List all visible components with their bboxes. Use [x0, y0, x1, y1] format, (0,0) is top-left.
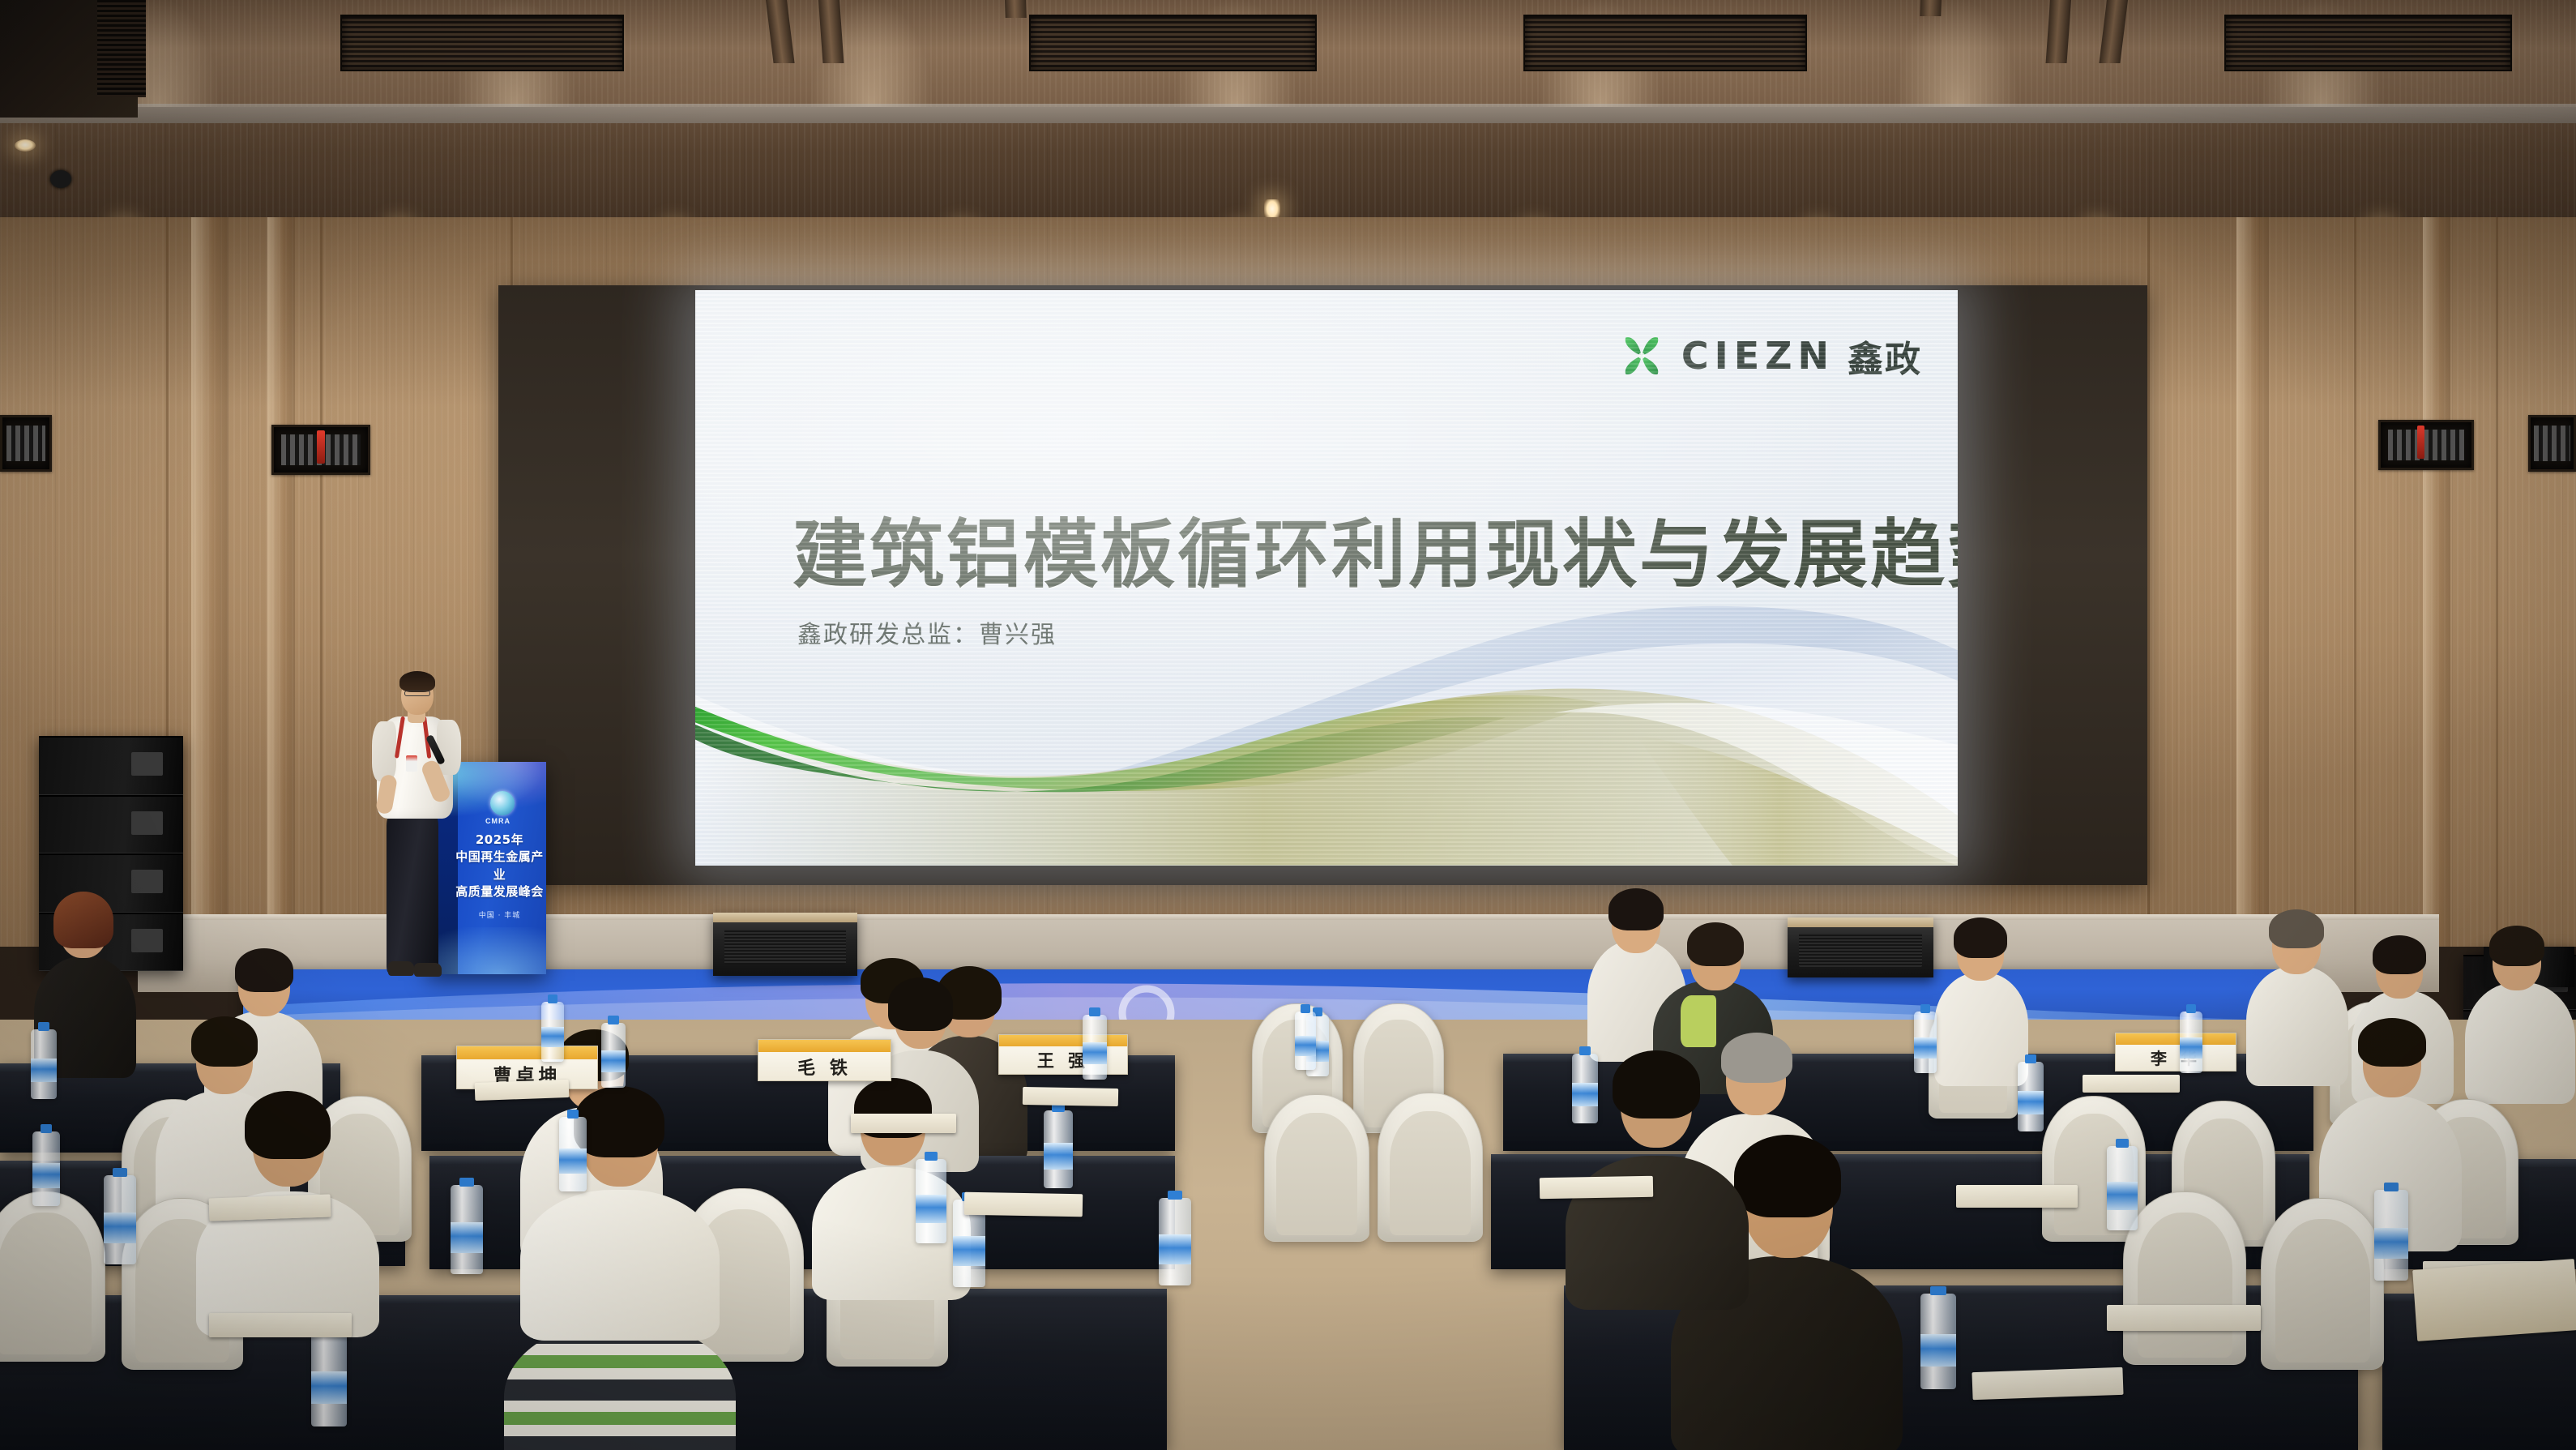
- ceiling-vent-grille: [1029, 15, 1317, 71]
- water-bottle: [1083, 1015, 1107, 1080]
- audience-chair: [2261, 1198, 2384, 1370]
- presenter-trousers: [387, 814, 438, 973]
- ceiling-beam: [818, 0, 844, 63]
- water-bottle: [1572, 1054, 1598, 1123]
- slide-logo-chinese: 鑫政: [1848, 330, 1922, 382]
- notepad: [1023, 1087, 1118, 1106]
- ciezn-pinwheel-icon: [1615, 329, 1668, 383]
- water-bottle: [311, 1331, 347, 1426]
- audience-chair: [1378, 1093, 1483, 1242]
- name-placard-text: 毛 铁: [758, 1052, 891, 1080]
- presenter-badge: [406, 755, 417, 772]
- water-bottle: [1044, 1110, 1073, 1188]
- audience-member: [519, 1086, 721, 1329]
- water-bottle: [2374, 1190, 2408, 1281]
- ceiling-vent-grille: [340, 15, 624, 71]
- presenter-sleeve: [372, 721, 396, 781]
- notepad: [851, 1114, 956, 1133]
- notepad: [964, 1192, 1083, 1217]
- led-screen: CIEZN 鑫政 建筑铝模板循环利用现状与发展趋势 鑫政研发总监：曹兴强: [695, 290, 1958, 866]
- stage-monitor-wedge: [1788, 917, 1933, 977]
- cmra-abbr: CMRA: [485, 817, 511, 825]
- wall-pilaster: [191, 217, 229, 947]
- audience-member: [1933, 916, 2030, 1078]
- water-bottle: [1914, 1012, 1937, 1073]
- water-bottle: [1159, 1198, 1191, 1285]
- audience-member: [810, 1078, 972, 1289]
- slide-title: 建筑铝模板循环利用现状与发展趋势: [792, 494, 1958, 602]
- water-bottle: [601, 1023, 626, 1088]
- notepad: [1540, 1176, 1653, 1199]
- audience-chair: [1264, 1094, 1369, 1242]
- cmra-logo: [490, 791, 515, 815]
- ceiling-vent-grille: [2224, 15, 2512, 71]
- notepad: [2083, 1075, 2180, 1093]
- wall-pilaster: [2236, 217, 2269, 947]
- water-bottle: [451, 1185, 483, 1274]
- name-placard: 王 强: [998, 1034, 1128, 1075]
- notepad: [1956, 1185, 2078, 1208]
- ceiling-beam: [1920, 0, 1942, 16]
- recessed-downlight: [15, 139, 36, 152]
- water-bottle: [31, 1029, 57, 1099]
- presenter-shoe: [414, 963, 442, 977]
- presenter-glasses: [404, 691, 430, 696]
- decorative-wall-niche: [0, 415, 52, 472]
- presenter-hair: [399, 671, 435, 692]
- name-placard: 李 华: [2115, 1033, 2236, 1071]
- notepad: [475, 1080, 570, 1101]
- ceiling-camera: [50, 170, 71, 188]
- wall-pilaster: [2423, 217, 2450, 947]
- audience-chair: [0, 1191, 105, 1362]
- ceiling: [0, 0, 2576, 243]
- water-bottle: [541, 1002, 564, 1062]
- ceiling-beam: [2046, 0, 2071, 63]
- decorative-wall-niche: [2378, 420, 2474, 470]
- decorative-wall-niche: [271, 425, 370, 475]
- slide-brand-logo: CIEZN 鑫政: [1615, 329, 1922, 383]
- decorative-wall-niche: [2528, 415, 2576, 472]
- conference-hall-scene: CIEZN 鑫政 建筑铝模板循环利用现状与发展趋势 鑫政研发总监：曹兴强: [0, 0, 2576, 1450]
- water-bottle: [2107, 1146, 2138, 1230]
- name-placard-text: 李 华: [2116, 1045, 2236, 1071]
- presenter-sleeve: [437, 720, 461, 775]
- audience-member: [2463, 924, 2576, 1094]
- water-bottle: [2018, 1062, 2044, 1131]
- program-booklet: [2412, 1259, 2576, 1341]
- water-bottle: [1295, 1012, 1316, 1070]
- water-bottle: [1920, 1294, 1956, 1389]
- notepad: [209, 1194, 331, 1221]
- name-placard: 毛 铁: [758, 1039, 891, 1081]
- wall-pilaster: [267, 217, 295, 947]
- audience-chair: [2123, 1191, 2246, 1365]
- ceiling-beam: [1005, 0, 1027, 18]
- presenter-shoe: [388, 961, 414, 976]
- water-bottle: [2180, 1012, 2202, 1073]
- name-placard-text: 王 强: [999, 1046, 1127, 1074]
- ceiling-vent-grille: [1523, 15, 1807, 71]
- notepad: [209, 1313, 352, 1337]
- ceiling-light-cove: [0, 104, 2576, 123]
- slide-logo-latin: CIEZN: [1681, 334, 1835, 378]
- slide-subtitle: 鑫政研发总监：曹兴强: [797, 614, 1057, 650]
- notepad: [1972, 1367, 2123, 1400]
- water-bottle: [559, 1117, 587, 1191]
- water-bottle: [104, 1175, 136, 1264]
- water-bottle: [916, 1159, 946, 1243]
- presenter: [369, 663, 474, 979]
- notepad: [2107, 1305, 2261, 1331]
- ceiling-corner-grille: [97, 0, 146, 97]
- water-bottle: [32, 1131, 60, 1206]
